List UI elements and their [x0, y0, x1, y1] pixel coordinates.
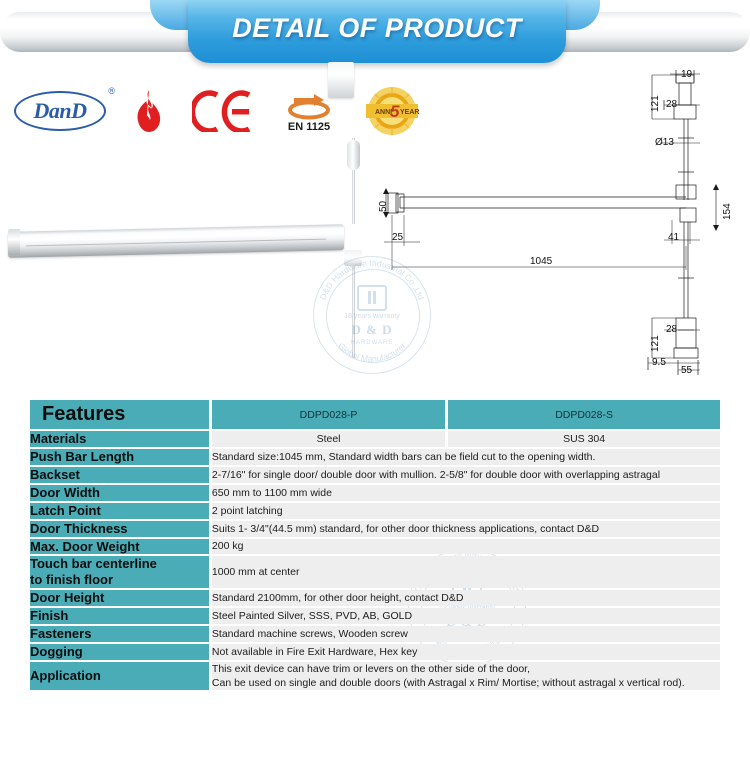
- dim-bottom-offset: 9.5: [652, 357, 666, 368]
- dim-top-height: 121: [650, 95, 661, 112]
- table-row: Door Width 650 mm to 1100 mm wide: [30, 485, 720, 501]
- model-header-p: DDPD028-P: [212, 400, 448, 429]
- table-row: Dogging Not available in Fire Exit Hardw…: [30, 644, 720, 660]
- row-label-materials: Materials: [30, 431, 212, 447]
- row-label-fasteners: Fasteners: [30, 626, 212, 642]
- row-label-latch-point: Latch Point: [30, 503, 212, 519]
- table-row: Application This exit device can have tr…: [30, 662, 720, 690]
- table-row-materials: Materials Steel SUS 304: [30, 431, 720, 447]
- model-header-s: DDPD028-S: [448, 400, 720, 429]
- row-label-max-door-weight: Max. Door Weight: [30, 539, 212, 555]
- row-label-backset: Backset: [30, 467, 212, 483]
- table-row: Door Thickness Suits 1- 3/4"(44.5 mm) st…: [30, 521, 720, 537]
- row-value-dogging: Not available in Fire Exit Hardware, Hex…: [212, 644, 720, 660]
- features-header-label: Features: [30, 400, 212, 429]
- row-value-door-thickness: Suits 1- 3/4"(44.5 mm) standard, for oth…: [212, 521, 720, 537]
- dim-mount-width: 25: [392, 232, 403, 243]
- row-value-latch-point: 2 point latching: [212, 503, 720, 519]
- table-row: Fasteners Standard machine screws, Woode…: [30, 626, 720, 642]
- row-value-push-bar-length: Standard size:1045 mm, Standard width ba…: [212, 449, 720, 465]
- dim-bar-length: 1045: [530, 256, 552, 267]
- row-label-application: Application: [30, 662, 212, 690]
- table-row: Push Bar Length Standard size:1045 mm, S…: [30, 449, 720, 465]
- dim-bottom-height: 121: [650, 335, 661, 352]
- row-label-finish: Finish: [30, 608, 212, 624]
- materials-value-s: SUS 304: [448, 431, 720, 447]
- row-value-door-width: 650 mm to 1100 mm wide: [212, 485, 720, 501]
- row-value-backset: 2-7/16" for single door/ double door wit…: [212, 467, 720, 483]
- table-row: Door Height Standard 2100mm, for other d…: [30, 590, 720, 606]
- dim-bracket-offset: 41: [668, 232, 679, 243]
- row-label-push-bar-length: Push Bar Length: [30, 449, 212, 465]
- technical-drawing: 19 121 28 Ø13 154 41 50 25 1045 121 28 9…: [0, 60, 750, 390]
- dim-bottom-inner: 28: [666, 324, 677, 335]
- row-value-application: This exit device can have trim or levers…: [212, 662, 720, 690]
- row-value-touch-bar-centerline: 1000 mm at center: [212, 556, 720, 588]
- table-row: Max. Door Weight 200 kg: [30, 539, 720, 555]
- schematic-linework: [0, 60, 750, 390]
- materials-value-p: Steel: [212, 431, 448, 447]
- table-header-row: Features DDPD028-P DDPD028-S: [30, 400, 720, 429]
- dim-bottom-width: 55: [681, 365, 692, 376]
- row-value-max-door-weight: 200 kg: [212, 539, 720, 555]
- dim-top-inner: 28: [666, 99, 677, 110]
- dim-bar-height: 154: [722, 203, 733, 220]
- row-value-finish: Steel Painted Silver, SSS, PVD, AB, GOLD: [212, 608, 720, 624]
- dim-top-width: 19: [681, 69, 692, 80]
- row-label-dogging: Dogging: [30, 644, 212, 660]
- table-row: Backset 2-7/16" for single door/ double …: [30, 467, 720, 483]
- page-title: DETAIL OF PRODUCT: [188, 13, 566, 44]
- row-label-touch-bar-centerline: Touch bar centerline to finish floor: [30, 556, 212, 588]
- row-label-door-thickness: Door Thickness: [30, 521, 212, 537]
- row-value-door-height: Standard 2100mm, for other door height, …: [212, 590, 720, 606]
- table-row: Touch bar centerline to finish floor 100…: [30, 556, 720, 588]
- table-row: Finish Steel Painted Silver, SSS, PVD, A…: [30, 608, 720, 624]
- row-label-door-height: Door Height: [30, 590, 212, 606]
- spec-table-body: Features DDPD028-P DDPD028-S Materials S…: [30, 400, 720, 690]
- table-row: Latch Point 2 point latching: [30, 503, 720, 519]
- dim-mount-height: 50: [378, 201, 389, 212]
- row-label-door-width: Door Width: [30, 485, 212, 501]
- row-value-fasteners: Standard machine screws, Wooden screw: [212, 626, 720, 642]
- specifications-table: Features DDPD028-P DDPD028-S Materials S…: [30, 398, 720, 692]
- dim-rod-diameter: Ø13: [655, 137, 674, 148]
